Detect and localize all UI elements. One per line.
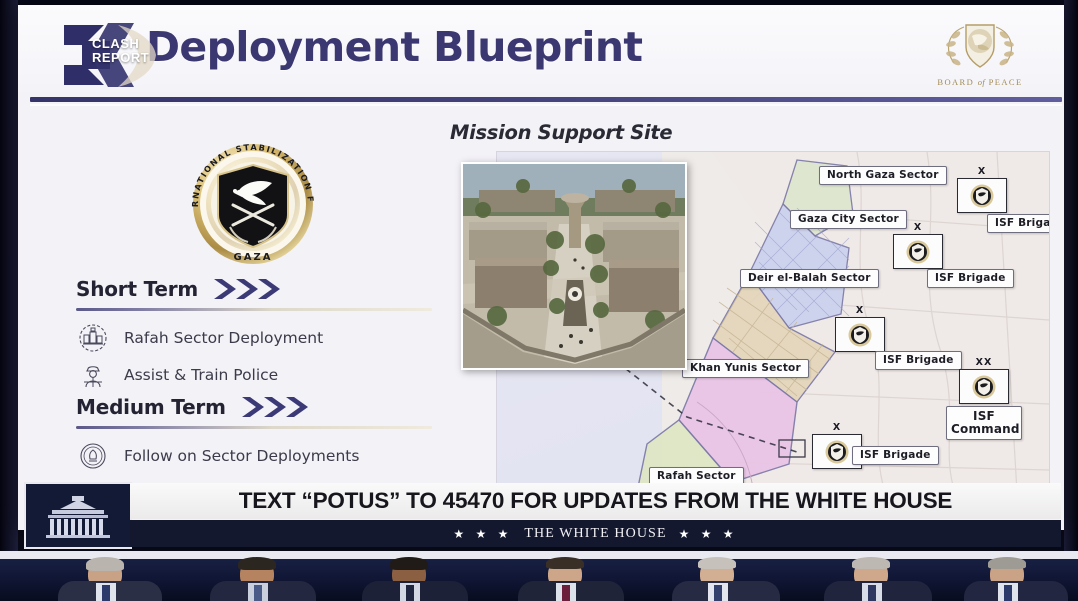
seal-label: BOARD of PEACE xyxy=(937,77,1022,87)
international-stabilization-force-badge: INTERNATIONAL STABILIZATION FORCE GAZA xyxy=(178,131,328,273)
unit-size-indicator: X xyxy=(958,166,1006,177)
list-item-label: Follow on Sector Deployments xyxy=(124,447,359,465)
list-item: Assist & Train Police xyxy=(76,358,432,392)
stars-left-icon: ★ ★ ★ xyxy=(453,527,512,541)
stars-right-icon: ★ ★ ★ xyxy=(679,527,738,541)
mission-support-site-photo xyxy=(461,162,687,370)
svg-text:GAZA: GAZA xyxy=(234,252,273,263)
section-title: Short Term xyxy=(76,277,198,301)
section-divider xyxy=(76,426,432,429)
unit-size-indicator: X xyxy=(894,222,942,233)
broadcaster-watermark: CLASH REPORT xyxy=(54,19,172,91)
police-officer-icon xyxy=(76,358,110,392)
unit-size-indicator: XX xyxy=(960,357,1008,368)
map-label-north-gaza: North Gaza Sector xyxy=(819,166,947,185)
map-label-gaza-city: Gaza City Sector xyxy=(790,210,907,229)
unit-symbol-isf-command: XX xyxy=(959,369,1009,404)
section-divider xyxy=(76,308,432,311)
unit-size-indicator: X xyxy=(836,305,884,316)
board-of-peace-seal: BOARD of PEACE xyxy=(924,13,1036,91)
page-title: Deployment Blueprint xyxy=(146,23,642,71)
map-label-khan-yunis: Khan Yunis Sector xyxy=(682,359,809,378)
map-label-isf-brigade-1: ISF Brigade xyxy=(987,214,1050,233)
lower-third-headline: TEXT “POTUS” TO 45470 FOR UPDATES FROM T… xyxy=(239,488,952,514)
seal-emblem-icon xyxy=(76,439,110,473)
unit-symbol-isf-brigade-2: X xyxy=(893,234,943,269)
section-header: Short Term xyxy=(76,277,432,301)
mission-support-site-heading: Mission Support Site xyxy=(450,121,672,144)
frame-left-edge xyxy=(0,0,18,601)
attendee xyxy=(200,557,328,601)
map-label-isf-brigade-3: ISF Brigade xyxy=(875,351,962,370)
lower-third-sub-bar: ★ ★ ★ THE WHITE HOUSE ★ ★ ★ xyxy=(130,520,1061,547)
map-label-isf-command: ISF Command xyxy=(946,406,1022,440)
city-deployment-icon xyxy=(76,321,110,355)
unit-size-indicator: X xyxy=(813,422,861,433)
lower-third: TEXT “POTUS” TO 45470 FOR UPDATES FROM T… xyxy=(18,482,1061,550)
broadcast-frame: Deployment Blueprint CLASH REPORT xyxy=(0,0,1078,601)
isf-unit-icon xyxy=(971,374,997,400)
section-short-term: Short Term xyxy=(76,277,432,392)
presentation-slide: Deployment Blueprint CLASH REPORT xyxy=(18,5,1064,530)
chevron-group-icon xyxy=(240,395,316,419)
attendee xyxy=(816,557,944,601)
aerial-render-illustration xyxy=(463,164,685,368)
triple-chevron-icon xyxy=(240,395,316,419)
unit-symbol-isf-brigade-3: X xyxy=(835,317,885,352)
attendee xyxy=(508,557,636,601)
attendee xyxy=(960,557,1070,601)
section-title: Medium Term xyxy=(76,395,226,419)
isf-unit-icon xyxy=(824,439,850,465)
watermark-label: CLASH REPORT xyxy=(92,37,182,65)
section-items: Follow on Sector Deployments xyxy=(76,439,432,473)
lower-third-headline-bar: TEXT “POTUS” TO 45470 FOR UPDATES FROM T… xyxy=(130,483,1061,519)
section-items: Rafah Sector Deployment Assist & Train P… xyxy=(76,321,432,392)
attendee xyxy=(46,557,174,601)
list-item: Follow on Sector Deployments xyxy=(76,439,432,473)
map-label-isf-brigade-4: ISF Brigade xyxy=(852,446,939,465)
section-medium-term: Medium Term xyxy=(76,395,432,473)
white-house-icon xyxy=(24,482,132,549)
list-item-label: Assist & Train Police xyxy=(124,366,278,384)
isf-unit-icon xyxy=(905,239,931,265)
isf-unit-icon xyxy=(847,322,873,348)
unit-symbol-isf-brigade-1: X xyxy=(957,178,1007,213)
header-divider xyxy=(30,97,1062,102)
attendee xyxy=(352,557,480,601)
list-item-label: Rafah Sector Deployment xyxy=(124,329,323,347)
isf-unit-icon xyxy=(969,183,995,209)
laurel-shield-icon xyxy=(934,17,1026,75)
list-item: Rafah Sector Deployment xyxy=(76,321,432,355)
section-header: Medium Term xyxy=(76,395,432,419)
attendee xyxy=(664,557,792,601)
frame-right-edge xyxy=(1064,0,1078,601)
header-divider-highlight xyxy=(30,104,1062,106)
lower-third-sub-label: THE WHITE HOUSE xyxy=(524,526,666,542)
triple-chevron-icon xyxy=(212,277,288,301)
chevron-group-icon xyxy=(212,277,288,301)
map-label-deir-el-balah: Deir el-Balah Sector xyxy=(740,269,879,288)
audience-row xyxy=(0,551,1078,601)
map-label-isf-brigade-2: ISF Brigade xyxy=(927,269,1014,288)
